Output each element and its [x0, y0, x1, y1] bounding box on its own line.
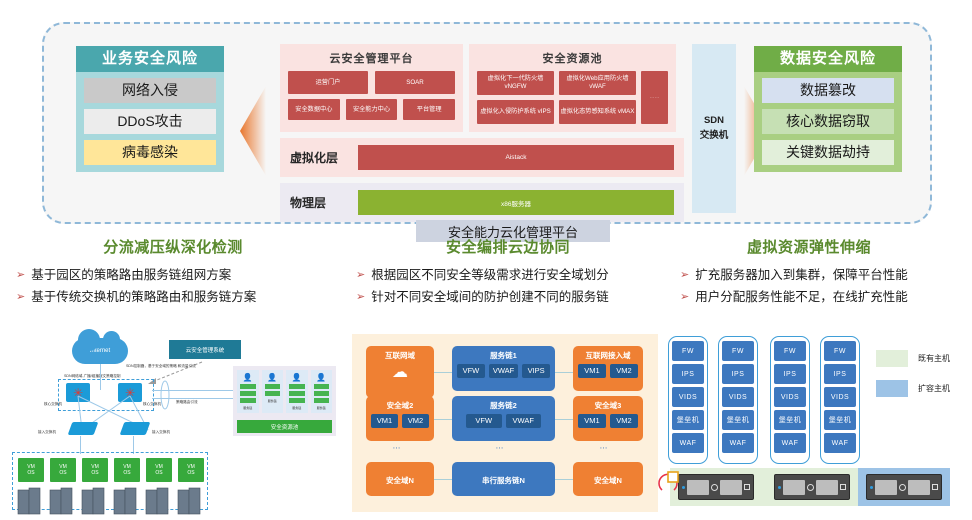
- feature-column-1-bullet-2: ➢ 基于传统交换机的策略路由和服务链方案: [16, 289, 338, 305]
- chain-pill[interactable]: VWAF: [506, 414, 542, 428]
- feature-column-2-bullet-1: ➢ 根据园区不同安全等级需求进行安全域划分: [356, 267, 668, 283]
- os-label: OS: [91, 470, 98, 477]
- bullet-text: 扩充服务器加入到集群，保障平台性能: [695, 267, 908, 283]
- cloud-chip-capability-center[interactable]: 安全能力中心: [346, 99, 398, 120]
- chain-title: 服务链1: [452, 346, 555, 361]
- resource-bar: [240, 384, 256, 389]
- chain-title: 服务链2: [452, 396, 555, 411]
- internet-cloud-icon: Internet: [72, 338, 128, 364]
- data-risk-item-1: 数据篡改: [762, 78, 894, 103]
- zone-title: 互联网接入域: [573, 346, 643, 361]
- rack-item-vids[interactable]: VIDS: [672, 387, 704, 407]
- virtualization-layer-row: 虚拟化层 Aistack: [280, 138, 684, 177]
- bullet-arrow-icon: ➢: [16, 289, 25, 305]
- chain-pill[interactable]: VFW: [457, 364, 485, 378]
- chain-pill[interactable]: VIPS: [522, 364, 550, 378]
- rack-item-fw[interactable]: FW: [722, 341, 754, 361]
- rack-item-vids[interactable]: VIDS: [722, 387, 754, 407]
- os-label: OS: [59, 470, 66, 477]
- drive-slot: [720, 480, 742, 495]
- bullet-arrow-icon: ➢: [680, 267, 689, 283]
- status-led-icon: [870, 486, 873, 489]
- rack-column-4: FW IPS VIDS 堡垒机 WAF: [820, 336, 860, 464]
- os-label: OS: [27, 470, 34, 477]
- access-switch-1-label: 接入交换机: [38, 430, 56, 435]
- bullet-arrow-icon: ➢: [356, 267, 365, 283]
- chain-row2-left-zone[interactable]: 安全域2 VM1 VM2: [366, 396, 434, 441]
- os-label: OS: [155, 470, 162, 477]
- resource-pool-column-label: 服务链: [313, 406, 331, 410]
- traffic-annotation: 策略路由引流: [176, 400, 198, 405]
- sdn-label-line1: SDN: [700, 114, 729, 128]
- rack-item-vids[interactable]: VIDS: [824, 387, 856, 407]
- bullet-text: 根据园区不同安全等级需求进行安全域划分: [371, 267, 609, 283]
- resource-pool-column: 👤 服务链: [262, 370, 284, 413]
- resource-pool-column: 👤 服务链: [237, 370, 259, 413]
- rack-item-ips[interactable]: IPS: [824, 364, 856, 384]
- virtualization-layer-label: 虚拟化层: [290, 149, 358, 166]
- chain-connector: [555, 419, 573, 420]
- business-risk-item-2: DDoS攻击: [84, 109, 216, 134]
- ellipsis-dots: ⋮: [399, 444, 401, 453]
- chain-connector: [434, 479, 452, 480]
- data-risk-card: 数据安全风险 数据篡改 核心数据窃取 关键数据劫持: [754, 46, 902, 172]
- resource-bar: [314, 398, 330, 403]
- rack-item-vids[interactable]: VIDS: [774, 387, 806, 407]
- feature-column-1-title: 分流减压纵深化检测: [8, 236, 338, 257]
- cloud-management-platform: 云安全管理平台 运营门户 SOAR 安全数据中心 安全能力中心 平台管理: [280, 44, 463, 132]
- chain-connector: [434, 372, 452, 373]
- ellipsis-dots: ⋮: [606, 444, 608, 453]
- feature-column-2-bullet-2: ➢ 针对不同安全域间的防护创建不同的服务链: [356, 289, 668, 305]
- chain-pill[interactable]: VWAF: [489, 364, 518, 378]
- resource-pool-column-label: 服务链: [239, 406, 257, 410]
- legend-existing-host: 既有主机: [876, 350, 950, 367]
- resource-bar: [240, 391, 256, 396]
- legend-label: 既有主机: [918, 353, 950, 364]
- pool-chip-vngfw[interactable]: 虚拟化下一代防火墙 vNGFW: [477, 71, 554, 95]
- zone-title: 安全域N: [573, 462, 643, 486]
- resource-pool-column-label: 服务链: [264, 399, 282, 403]
- access-switch-2-label: 接入交换机: [152, 430, 170, 435]
- connector-line: [100, 364, 101, 390]
- chain-row2-service-chain[interactable]: 服务链2 VFW VWAF: [452, 396, 555, 441]
- legend-label: 扩容主机: [918, 383, 950, 394]
- feature-column-3: 虚拟资源弹性伸缩 ➢ 扩充服务器加入到集群，保障平台性能 ➢ 用户分配服务性能不…: [672, 236, 968, 305]
- pool-chip-more[interactable]: ……: [641, 71, 668, 124]
- chain-row1-right-zone[interactable]: 互联网接入域 VM1 VM2: [573, 346, 643, 391]
- data-risk-item-2: 核心数据窃取: [762, 109, 894, 134]
- feature-column-2: 安全编排云边协同 ➢ 根据园区不同安全等级需求进行安全域划分 ➢ 针对不同安全域…: [348, 236, 668, 305]
- chain-title: 串行服务链N: [452, 462, 555, 486]
- legend-expansion-host: 扩容主机: [876, 380, 950, 397]
- chain-pill[interactable]: VFW: [466, 414, 502, 428]
- chain-connector: [555, 372, 573, 373]
- zone-title: 安全域2: [366, 396, 434, 411]
- power-button-icon: [807, 484, 814, 491]
- cursor-highlight-icon: [658, 470, 680, 492]
- data-risk-item-3: 关键数据劫持: [762, 140, 894, 165]
- cloud-chip-data-center[interactable]: 安全数据中心: [288, 99, 340, 120]
- resource-bar: [314, 391, 330, 396]
- flow-ellipse-icon: [158, 380, 172, 410]
- platform-stack: 云安全管理平台 运营门户 SOAR 安全数据中心 安全能力中心 平台管理 安全资…: [280, 44, 684, 222]
- business-risk-card: 业务安全风险 网络入侵 DDoS攻击 病毒感染: [76, 46, 224, 172]
- zone-pill[interactable]: VM1: [578, 414, 606, 428]
- user-icon: 👤: [239, 373, 257, 382]
- zone-title: 安全域3: [573, 396, 643, 411]
- zone-title: 安全域N: [366, 462, 434, 486]
- sdn-label-line2: 交换机: [700, 129, 729, 143]
- sdn-switch-box: SDN 交换机: [692, 44, 736, 213]
- port-icon: [932, 484, 938, 490]
- bullet-arrow-icon: ➢: [16, 267, 25, 283]
- rack-column-3: FW IPS VIDS 堡垒机 WAF: [770, 336, 810, 464]
- rack-item-waf[interactable]: WAF: [722, 433, 754, 453]
- port-icon: [840, 484, 846, 490]
- bullet-arrow-icon: ➢: [356, 289, 365, 305]
- vm-node: VM OS: [178, 458, 204, 482]
- feature-column-3-title: 虚拟资源弹性伸缩: [672, 236, 968, 257]
- data-risk-title: 数据安全风险: [754, 46, 902, 72]
- resource-bar: [289, 384, 305, 389]
- drive-slot: [875, 480, 897, 495]
- rack-item-ips[interactable]: IPS: [672, 364, 704, 384]
- chain-row1-service-chain[interactable]: 服务链1 VFW VWAF VIPS: [452, 346, 555, 391]
- user-icon: 👤: [288, 373, 306, 382]
- access-switch-1-icon: [68, 422, 99, 435]
- user-icon: 👤: [264, 373, 282, 382]
- zone-pill[interactable]: VM2: [610, 364, 638, 378]
- chain-row1-left-zone[interactable]: 互联网域 ☁: [366, 346, 434, 398]
- drive-slot: [687, 480, 709, 495]
- pool-chip-vwaf[interactable]: 虚拟化Web应用防火墙 vWAF: [559, 71, 636, 95]
- physical-layer-bar: x86服务器: [358, 190, 674, 215]
- cloud-chip-platform-mgmt[interactable]: 平台管理: [403, 99, 455, 120]
- pool-chip-vips[interactable]: 虚拟化入侵防护系统 vIPS: [477, 100, 554, 124]
- server-unit-2: [774, 474, 850, 500]
- port-icon: [744, 484, 750, 490]
- bullet-text: 基于园区的策略路由服务链组网方案: [31, 267, 231, 283]
- cloud-security-mgmt-box: 云安全管理系统: [169, 340, 241, 359]
- user-icon: 👤: [313, 373, 331, 382]
- vm-node: VM OS: [114, 458, 140, 482]
- drive-slot: [783, 480, 805, 495]
- architecture-panel: 业务安全风险 网络入侵 DDoS攻击 病毒感染 云安全管理平台 运营门户 SOA…: [42, 22, 932, 224]
- zone-title: 互联网域: [366, 346, 434, 361]
- vm-node: VM OS: [18, 458, 44, 482]
- rack-item-bastion[interactable]: 堡垒机: [722, 410, 754, 430]
- cloud-download-icon: ☁: [366, 362, 434, 382]
- resource-pool-column-label: 服务链: [288, 406, 306, 410]
- feature-column-2-title: 安全编排云边协同: [348, 236, 668, 257]
- chain-row3-left-zone[interactable]: 安全域N: [366, 462, 434, 496]
- security-resource-pool: 安全资源池 虚拟化下一代防火墙 vNGFW 虚拟化入侵防护系统 vIPS 虚拟化…: [469, 44, 676, 132]
- resource-bar: [265, 391, 281, 396]
- resource-pool-column: 👤 服务链: [286, 370, 308, 413]
- rack-column-2: FW IPS VIDS 堡垒机 WAF: [718, 336, 758, 464]
- rack-item-fw[interactable]: FW: [672, 341, 704, 361]
- rack-item-waf[interactable]: WAF: [824, 433, 856, 453]
- power-button-icon: [711, 484, 718, 491]
- virtualization-layer-bar: Aistack: [358, 145, 674, 170]
- rack-column-1: FW IPS VIDS 堡垒机 WAF: [668, 336, 708, 464]
- vm-node: VM OS: [50, 458, 76, 482]
- zone-pill[interactable]: VM1: [578, 364, 606, 378]
- sdn-policy-annotation: SDN控制器，基于安全域的策略 和流量引流: [126, 364, 196, 369]
- server-rack-icons: [14, 484, 214, 518]
- legend-swatch-blue: [876, 380, 908, 397]
- chain-row3-right-zone[interactable]: 安全域N: [573, 462, 643, 496]
- legend-swatch-green: [876, 350, 908, 367]
- rack-item-fw[interactable]: FW: [774, 341, 806, 361]
- access-switch-2-icon: [120, 422, 151, 435]
- resource-bar: [240, 398, 256, 403]
- drive-slot: [908, 480, 930, 495]
- rack-item-ips[interactable]: IPS: [774, 364, 806, 384]
- cloud-platform-header: 云安全管理平台: [288, 50, 455, 66]
- bullet-text: 针对不同安全域间的防护创建不同的服务链: [371, 289, 609, 305]
- bullet-text: 基于传统交换机的策略路由和服务链方案: [31, 289, 256, 305]
- left-arrow-icon: [240, 86, 266, 176]
- bullet-arrow-icon: ➢: [680, 289, 689, 305]
- feature-column-1: 分流减压纵深化检测 ➢ 基于园区的策略路由服务链组网方案 ➢ 基于传统交换机的策…: [8, 236, 338, 305]
- ellipsis-dots: ⋮: [502, 444, 504, 453]
- physical-layer-row: 物理层 x86服务器: [280, 183, 684, 222]
- cloud-chip-soar[interactable]: SOAR: [375, 71, 455, 94]
- security-resource-pool-panel: 👤 服务链 👤 服务链 👤 服务链 👤 服务链 安全资源池: [233, 366, 336, 436]
- rack-item-fw[interactable]: FW: [824, 341, 856, 361]
- chain-connector: [555, 479, 573, 480]
- chain-row3-service-chain[interactable]: 串行服务链N: [452, 462, 555, 496]
- server-unit-1: [678, 474, 754, 500]
- rack-item-bastion[interactable]: 堡垒机: [774, 410, 806, 430]
- zone-pill[interactable]: VM2: [402, 414, 429, 428]
- feature-column-1-bullet-1: ➢ 基于园区的策略路由服务链组网方案: [16, 267, 338, 283]
- elastic-scaling-diagram: FW IPS VIDS 堡垒机 WAF FW IPS VIDS 堡垒机 WAF …: [660, 332, 972, 520]
- feature-column-3-bullet-2: ➢ 用户分配服务性能不足，在线扩充性能: [680, 289, 968, 305]
- business-risk-title: 业务安全风险: [76, 46, 224, 72]
- pool-chip-vmax[interactable]: 虚拟化态势感知系统 vMAX: [559, 100, 636, 124]
- zone-pill[interactable]: VM2: [610, 414, 638, 428]
- chain-row2-right-zone[interactable]: 安全域3 VM1 VM2: [573, 396, 643, 441]
- cloud-chip-portal[interactable]: 运营门户: [288, 71, 368, 94]
- rack-item-bastion[interactable]: 堡垒机: [672, 410, 704, 430]
- vm-node: VM OS: [82, 458, 108, 482]
- rack-item-waf[interactable]: WAF: [672, 433, 704, 453]
- resource-pool-header: 安全资源池: [477, 50, 668, 66]
- os-label: OS: [187, 470, 194, 477]
- chain-connector: [434, 419, 452, 420]
- resource-pool-title: 安全资源池: [237, 420, 332, 433]
- resource-bar: [289, 398, 305, 403]
- physical-layer-label: 物理层: [290, 194, 358, 211]
- service-chain-diagram: 互联网域 ☁ 服务链1 VFW VWAF VIPS 互联网接入域 VM1 VM2…: [352, 334, 658, 512]
- drive-slot: [816, 480, 838, 495]
- resource-pool-column: 👤 服务链: [311, 370, 333, 413]
- rack-item-bastion[interactable]: 堡垒机: [824, 410, 856, 430]
- business-risk-item-3: 病毒感染: [84, 140, 216, 165]
- os-label: OS: [123, 470, 130, 477]
- bullet-text: 用户分配服务性能不足，在线扩充性能: [695, 289, 908, 305]
- resource-bar: [314, 384, 330, 389]
- vm-node: VM OS: [146, 458, 172, 482]
- feature-column-3-bullet-1: ➢ 扩充服务器加入到集群，保障平台性能: [680, 267, 968, 283]
- status-led-icon: [778, 486, 781, 489]
- zone-pill[interactable]: VM1: [371, 414, 398, 428]
- power-button-icon: [899, 484, 906, 491]
- server-unit-3: [866, 474, 942, 500]
- resource-bar: [289, 391, 305, 396]
- rack-item-ips[interactable]: IPS: [722, 364, 754, 384]
- business-risk-item-1: 网络入侵: [84, 78, 216, 103]
- resource-bar: [265, 384, 281, 389]
- rack-item-waf[interactable]: WAF: [774, 433, 806, 453]
